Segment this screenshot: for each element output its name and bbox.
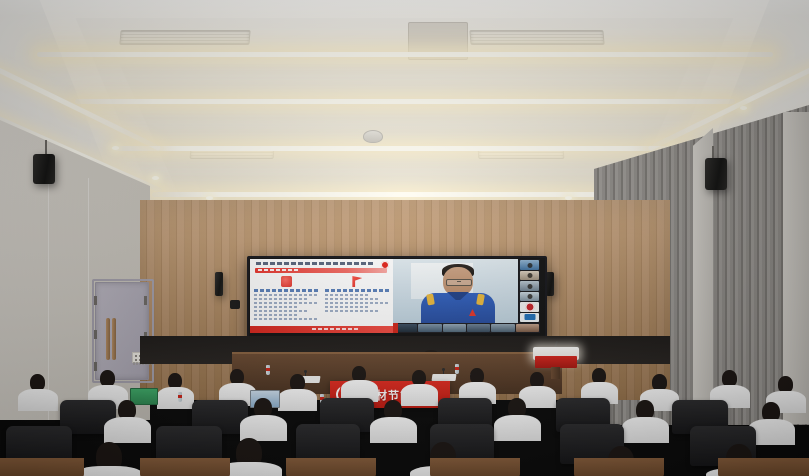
slide-footer-strip — [250, 326, 393, 333]
slide-column-1 — [254, 276, 319, 325]
participant-tile[interactable] — [520, 260, 539, 270]
column-speaker-icon — [546, 272, 554, 296]
call-indicator-icon — [393, 323, 398, 333]
ceiling-light-strip — [37, 52, 773, 57]
conference-room-photo: 中材节能 — [0, 0, 809, 476]
participant-tile[interactable] — [520, 281, 539, 291]
column-speaker-icon — [215, 272, 223, 296]
chair-wood-trim — [430, 458, 520, 476]
slide-heading — [325, 289, 390, 292]
slide-body-line — [325, 310, 380, 312]
participant-tile[interactable] — [520, 271, 539, 281]
slide-body-line — [325, 298, 380, 300]
audience-seating — [0, 360, 809, 476]
ceiling-light-strip — [152, 192, 658, 197]
slide-columns — [254, 276, 389, 325]
participant-tile[interactable] — [418, 324, 441, 332]
participant-tile[interactable] — [491, 324, 514, 332]
slide-body-line — [254, 306, 299, 308]
video-conference-panel — [393, 259, 540, 333]
slide-body-line — [325, 302, 390, 304]
slide-body-line — [254, 314, 299, 316]
slide-body-line — [254, 310, 309, 312]
participant-tile[interactable] — [516, 324, 539, 332]
downlight-icon — [740, 106, 747, 110]
slide-body-line — [254, 294, 319, 296]
slide-body-line — [254, 318, 319, 320]
slide-body-line — [254, 302, 319, 304]
slide-title-line — [256, 262, 375, 266]
slide-highlight-bar — [255, 268, 387, 273]
door-hinge-icon — [94, 330, 97, 339]
participant-tile[interactable] — [520, 313, 539, 323]
door-push-bar[interactable] — [106, 318, 110, 360]
main-speaker-video-tile[interactable] — [393, 259, 518, 323]
chair-wood-trim — [140, 458, 230, 476]
wall-speaker-icon — [705, 158, 727, 190]
smoke-detector-icon — [363, 130, 383, 143]
participant-tile[interactable] — [520, 292, 539, 302]
slide-column-2 — [325, 276, 390, 325]
ceiling-light-strip — [114, 146, 696, 151]
laptop-icon — [130, 388, 158, 405]
door-push-bar[interactable] — [112, 318, 116, 360]
red-document-icon — [281, 276, 292, 287]
slide-heading — [254, 289, 319, 292]
participant-tile[interactable] — [520, 302, 539, 312]
camera-icon — [230, 300, 240, 309]
slide-body-line — [325, 306, 370, 308]
glasses-icon — [446, 279, 472, 286]
participant-tile[interactable] — [467, 324, 490, 332]
led-display-wall[interactable] — [250, 259, 540, 333]
slide-body-line — [325, 294, 370, 296]
chair-wood-trim — [718, 458, 809, 476]
participant-filmstrip[interactable] — [393, 323, 540, 333]
chair-wood-trim — [0, 458, 84, 476]
slide-body-line — [254, 298, 309, 300]
door-hinge-icon — [94, 296, 97, 305]
participant-thumbnail-column[interactable] — [519, 259, 540, 323]
chair-wood-trim — [574, 458, 664, 476]
air-vent-icon — [469, 30, 604, 45]
downlight-icon — [112, 146, 119, 150]
wall-speaker-icon — [33, 154, 55, 184]
chair-wood-trim — [286, 458, 376, 476]
red-flag-icon — [351, 276, 362, 287]
downlight-icon — [152, 176, 159, 180]
presentation-slide — [250, 259, 393, 333]
door-hinge-icon — [144, 296, 147, 305]
air-vent-icon — [119, 30, 250, 45]
ceiling-light-strip — [75, 99, 735, 104]
water-bottle-icon — [178, 392, 182, 402]
participant-tile[interactable] — [443, 324, 466, 332]
